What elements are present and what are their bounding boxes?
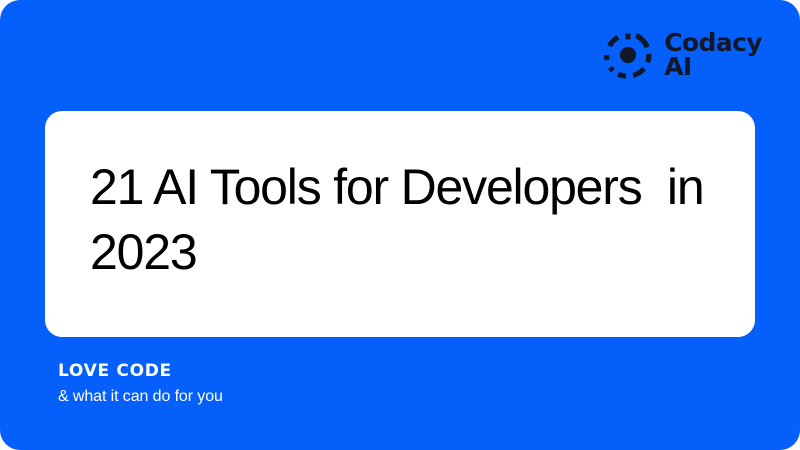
brand-wordmark: Codacy AI: [664, 31, 762, 79]
footer-tagline: LOVE CODE & what it can do for you: [58, 360, 223, 407]
brand-lockup: Codacy AI: [603, 30, 762, 80]
page-title: 21 AI Tools for Developers in 2023: [45, 155, 755, 285]
brand-name-line-2: AI: [664, 55, 762, 79]
slide-canvas: Codacy AI 21 AI Tools for Developers in …: [0, 0, 800, 450]
footer-subline: & what it can do for you: [58, 387, 223, 407]
title-card: 21 AI Tools for Developers in 2023: [45, 111, 755, 337]
footer-headline: LOVE CODE: [58, 360, 223, 382]
codacy-logo-mark-icon: [603, 30, 653, 80]
